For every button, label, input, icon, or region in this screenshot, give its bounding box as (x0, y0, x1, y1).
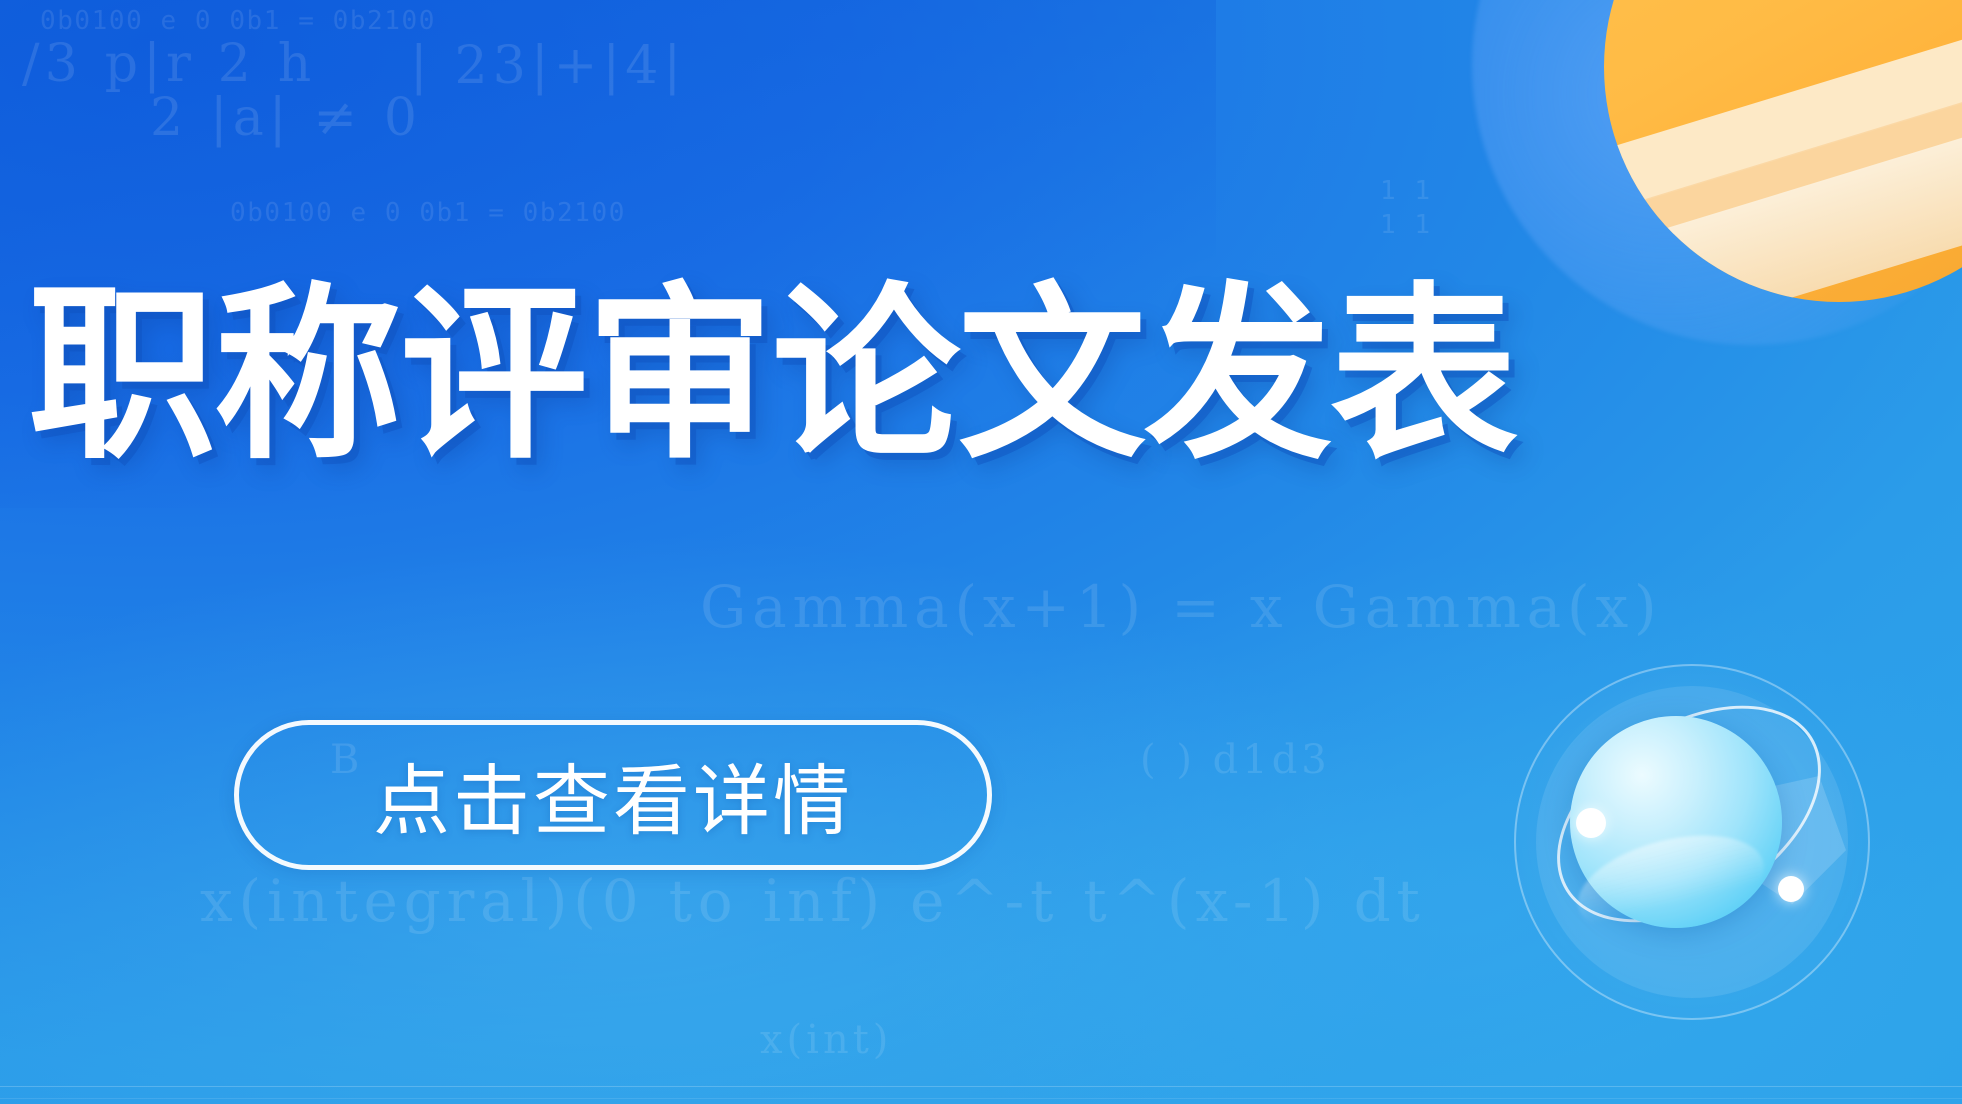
watermark-text: 0b0100 e 0 0b1 = 0b2100 (40, 8, 436, 34)
atom-sphere-icon (1514, 664, 1870, 1020)
watermark-text: /3 p|r 2 h (22, 38, 316, 90)
atom-electron-icon (1576, 808, 1606, 838)
view-details-button-label: 点击查看详情 (373, 740, 853, 851)
watermark-text: | 23|+|4| (410, 40, 686, 92)
divider-hairline (0, 1098, 1962, 1099)
watermark-text: 2 |a| ≠ 0 (150, 92, 422, 144)
watermark-text: x(int) (760, 1020, 892, 1060)
saturn-planet-icon (1604, 0, 1962, 302)
divider-hairline (0, 1086, 1962, 1087)
atom-electron-icon (1778, 876, 1804, 902)
page-title: 职称评审论文发表 (28, 282, 1516, 470)
watermark-text: Gamma(x+1) = x Gamma(x) (700, 578, 1662, 636)
promo-banner: 0b0100 e 0 0b1 = 0b2100 /3 p|r 2 h | 23|… (0, 0, 1962, 1104)
watermark-text: 0b0100 e 0 0b1 = 0b2100 (230, 200, 626, 226)
watermark-text: x(integral)(0 to inf) e^-t t^(x-1) dt (200, 872, 1426, 930)
view-details-button[interactable]: 点击查看详情 (234, 720, 992, 870)
watermark-text: 1 1 (1380, 178, 1432, 204)
watermark-text: ( ) d1d3 (1140, 740, 1331, 780)
watermark-text: 1 1 (1380, 212, 1432, 238)
